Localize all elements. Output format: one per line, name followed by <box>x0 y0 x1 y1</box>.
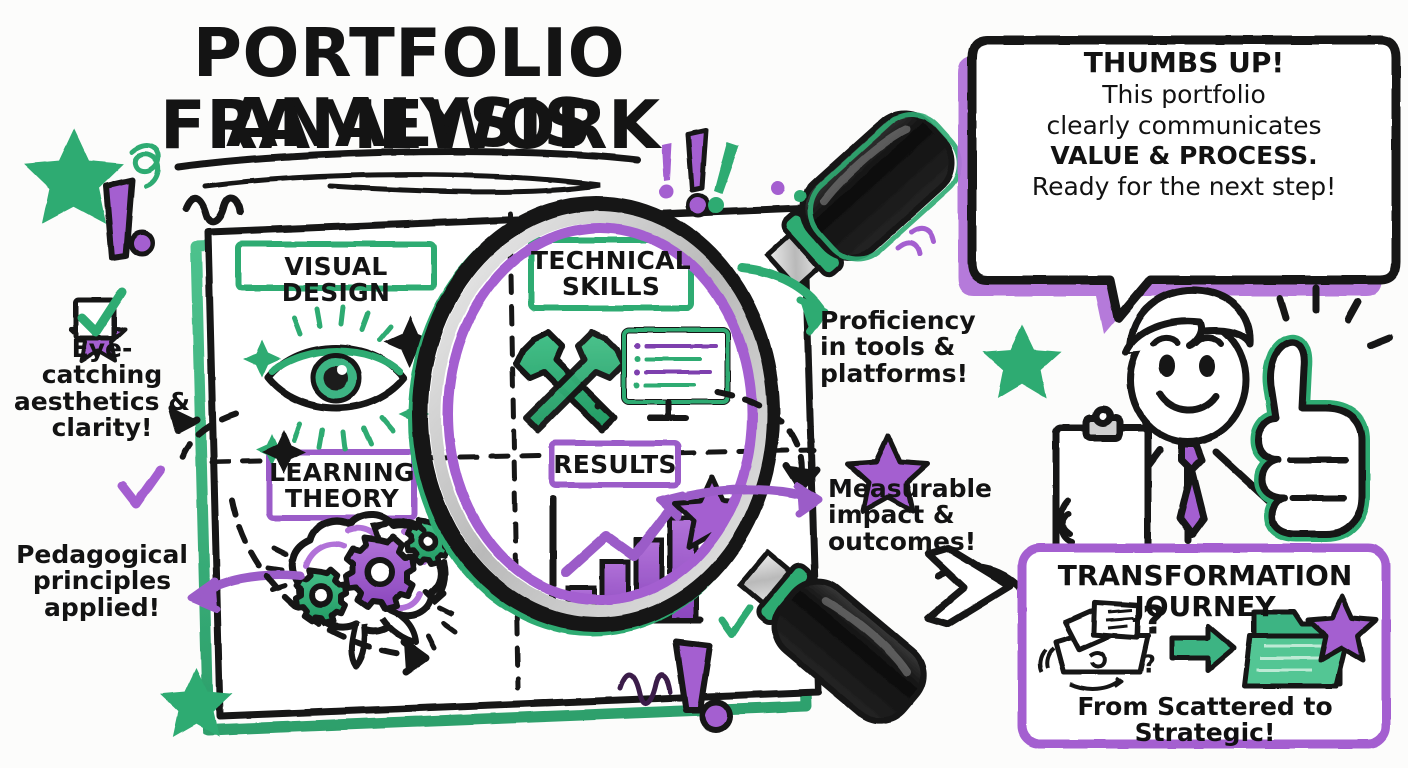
quadrant-label-visual-design[interactable]: VISUAL DESIGN <box>238 254 434 307</box>
learning-theory-note: Pedagogical principles applied! <box>14 542 190 621</box>
note-line: Pedagogical <box>14 542 190 568</box>
note-line: aesthetics & <box>12 389 192 415</box>
note-line: in tools & <box>820 334 996 360</box>
green-dot <box>794 190 806 202</box>
note-line: Measurable <box>828 476 1004 502</box>
big-right-arrow-icon <box>928 548 1010 624</box>
technical-skills-text: TECHNICAL SKILLS <box>531 246 691 301</box>
card-title-line2: JOURNEY <box>1030 591 1380 622</box>
card-title-line1: TRANSFORMATION <box>1030 560 1380 591</box>
bubble-line: This portfolio <box>984 80 1384 111</box>
transformation-card-title: TRANSFORMATION JOURNEY <box>1030 560 1380 623</box>
note-line: clarity! <box>12 415 192 441</box>
transformation-card-caption: From Scattered to Strategic! <box>1030 694 1380 747</box>
quadrant-label-technical-skills[interactable]: TECHNICAL SKILLS <box>531 248 691 301</box>
black-scribble-icon <box>186 198 240 222</box>
visual-design-note: Eye-catching aesthetics & clarity! <box>12 336 192 441</box>
portfolio-analysis-framework-infographic: ? ? <box>0 0 1408 768</box>
bubble-line: clearly communicates <box>984 111 1384 142</box>
note-line: principles <box>14 568 190 594</box>
note-line: Proficiency <box>820 308 996 334</box>
green-checkbox-icon <box>76 292 122 338</box>
bubble-line: THUMBS UP! <box>984 46 1384 80</box>
bubble-line: Ready for the next step! <box>984 172 1384 203</box>
clipboard-icon <box>1056 409 1148 548</box>
results-note: Measurable impact & outcomes! <box>828 476 1004 555</box>
quadrant-label-results[interactable]: RESULTS <box>552 452 678 478</box>
page-title-line2: FRAMEWORK <box>160 90 660 160</box>
note-line: Eye-catching <box>12 336 192 389</box>
purple-exclamation-icon <box>106 180 153 258</box>
quadrant-label-learning-theory[interactable]: LEARNING THEORY <box>266 460 418 513</box>
speech-bubble-text: THUMBS UP! This portfolio clearly commun… <box>984 46 1384 202</box>
technical-skills-note: Proficiency in tools & platforms! <box>820 308 996 387</box>
learning-theory-text: LEARNING THEORY <box>269 458 415 513</box>
note-line: outcomes! <box>828 529 1004 555</box>
question-mark-small: ? <box>1142 650 1156 678</box>
green-star-icon <box>986 328 1058 395</box>
thumbs-up-icon <box>1258 342 1362 534</box>
note-line: platforms! <box>820 361 996 387</box>
note-line: impact & <box>828 502 1004 528</box>
bubble-line: VALUE & PROCESS. <box>984 141 1384 172</box>
purple-check-icon <box>122 470 160 504</box>
note-line: applied! <box>14 595 190 621</box>
purple-dot <box>771 181 785 195</box>
